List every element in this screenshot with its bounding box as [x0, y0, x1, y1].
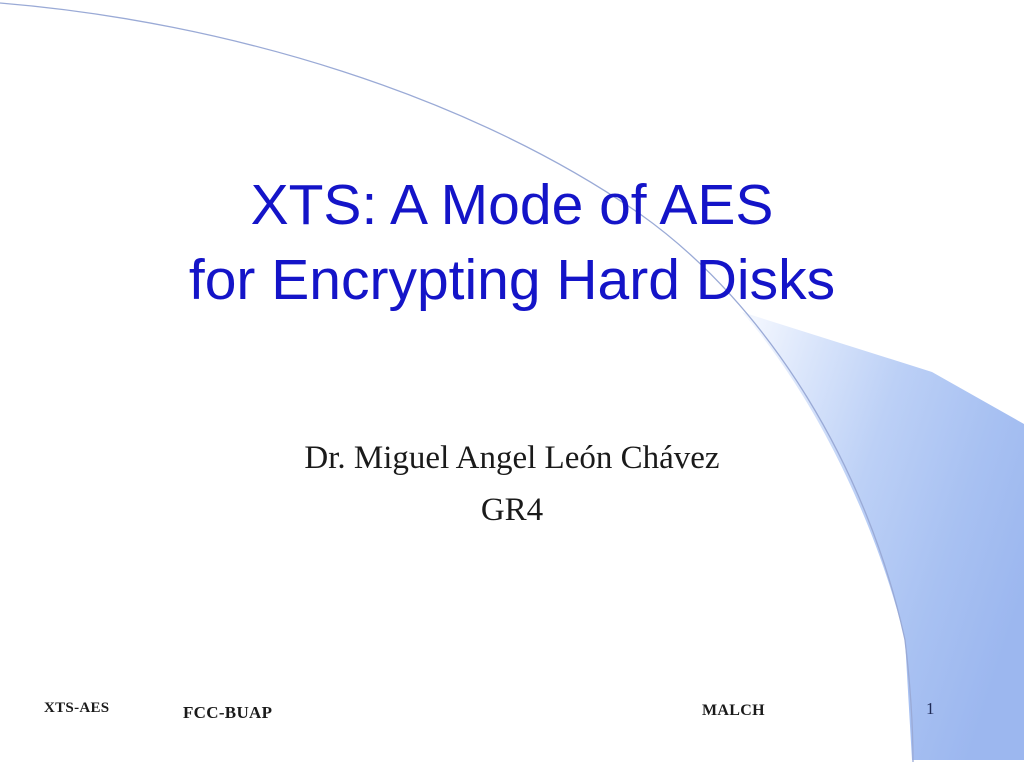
swoosh-arc: [0, 3, 913, 762]
footer-department-label: FCC-BUAP: [183, 703, 272, 723]
author-name: Dr. Miguel Angel León Chávez: [0, 432, 1024, 484]
title-line-1: XTS: A Mode of AES: [0, 168, 1024, 243]
slide-title: XTS: A Mode of AES for Encrypting Hard D…: [0, 168, 1024, 318]
presentation-slide: XTS: A Mode of AES for Encrypting Hard D…: [0, 0, 1024, 768]
group-label: GR4: [0, 484, 1024, 536]
slide-subtitle: Dr. Miguel Angel León Chávez GR4: [0, 432, 1024, 536]
footer-author-initials: MALCH: [702, 702, 765, 720]
slide-number: 1: [926, 699, 935, 719]
title-line-2: for Encrypting Hard Disks: [0, 243, 1024, 318]
slide-background-decoration: [0, 0, 1024, 768]
footer-project-label: XTS-AES: [44, 700, 109, 717]
blue-gradient-wedge: [742, 312, 1024, 760]
